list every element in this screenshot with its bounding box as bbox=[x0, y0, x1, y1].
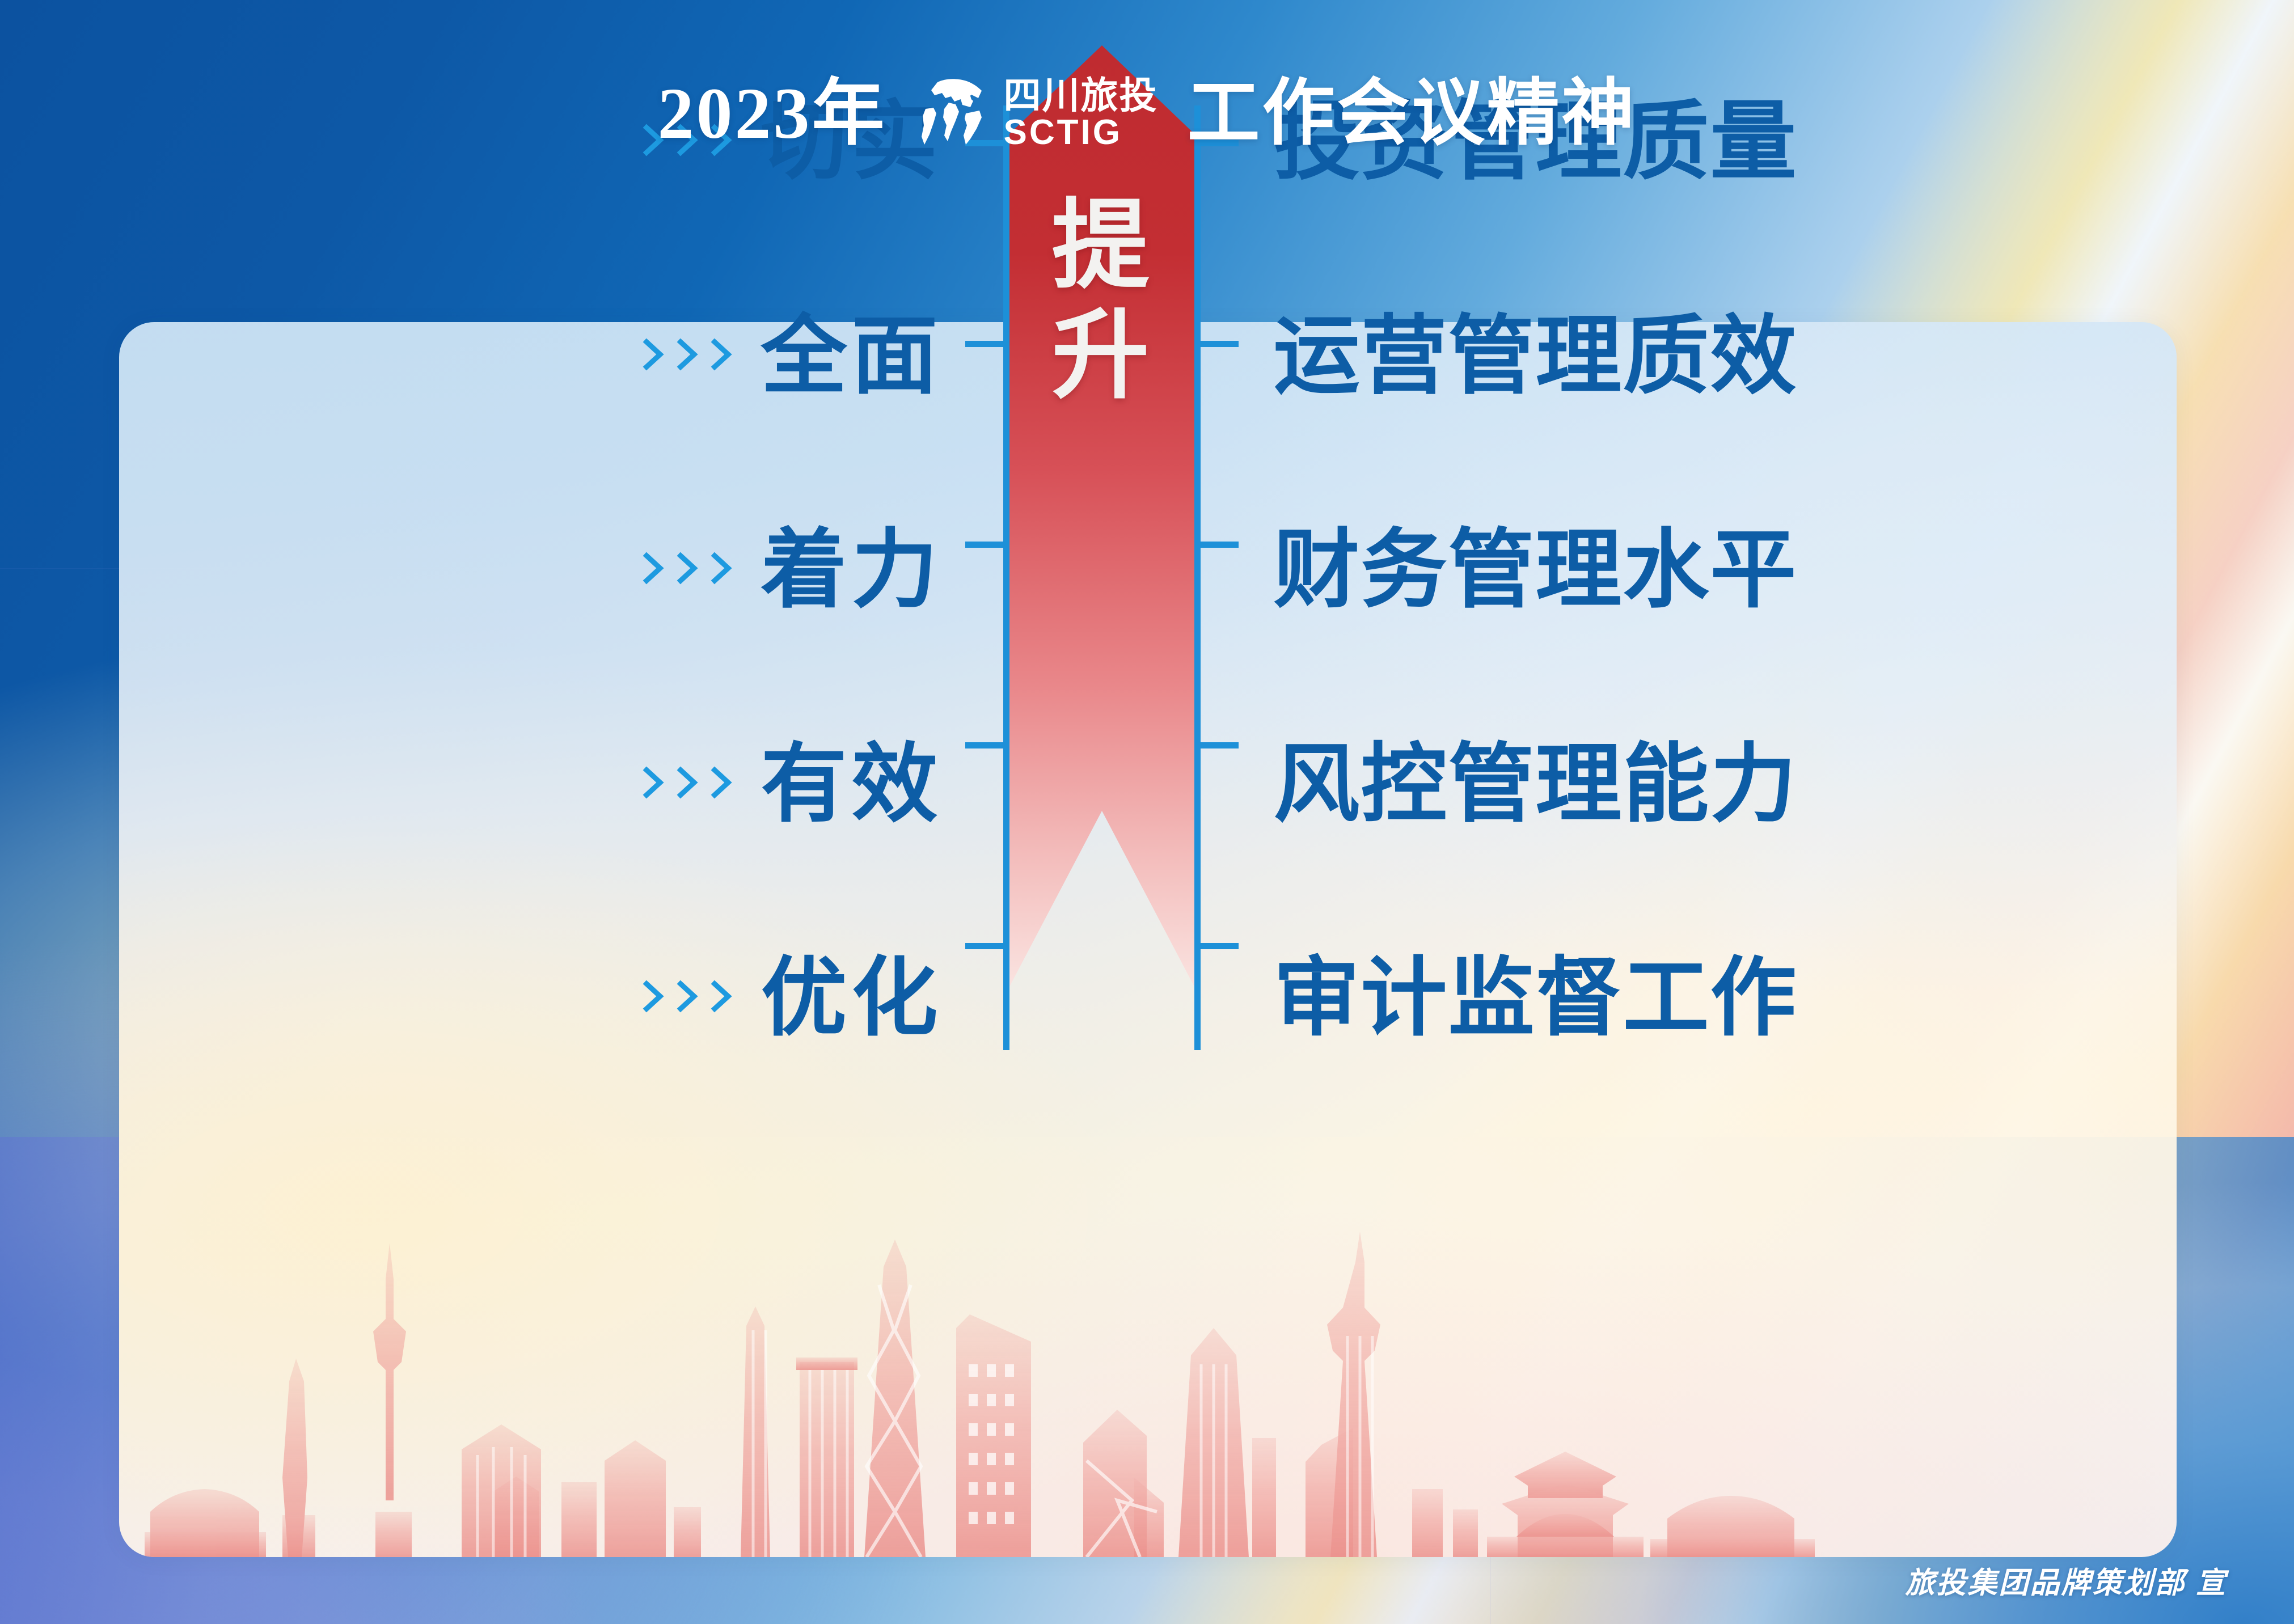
footer-credit: 旅投集团品牌策划部 宣 bbox=[1906, 1559, 2227, 1601]
brand-logo: 四川旅投 SCTIG bbox=[916, 77, 1157, 150]
keyword-row[interactable]: 全面 bbox=[211, 308, 943, 404]
objective-row[interactable]: 风控管理能力 bbox=[1261, 737, 2084, 832]
keyword-row[interactable]: 着力 bbox=[211, 522, 943, 618]
keyword-label: 全面 bbox=[761, 313, 943, 399]
chevron-triple-icon bbox=[642, 766, 735, 800]
keyword-label: 优化 bbox=[761, 955, 943, 1041]
bracket-tick bbox=[965, 341, 1009, 347]
globe-logo-icon bbox=[916, 78, 991, 149]
objective-row[interactable]: 财务管理水平 bbox=[1261, 522, 2084, 618]
keyword-row[interactable]: 优化 bbox=[211, 950, 943, 1046]
bracket-tick bbox=[965, 542, 1009, 548]
bracket-spine bbox=[1003, 105, 1009, 1050]
chevron-triple-icon bbox=[642, 979, 735, 1013]
objective-row[interactable]: 运营管理质效 bbox=[1261, 308, 2084, 404]
bracket-tick bbox=[965, 943, 1009, 949]
city-skyline-illustration bbox=[119, 1194, 2177, 1557]
keyword-label: 着力 bbox=[761, 527, 943, 613]
arrow-label-char-2: 升 bbox=[1052, 302, 1152, 412]
bracket-tick bbox=[965, 742, 1009, 748]
chevron-triple-icon bbox=[642, 337, 735, 371]
brand-name-cn: 四川旅投 bbox=[1003, 77, 1157, 114]
objective-label: 运营管理质效 bbox=[1274, 313, 1798, 399]
objective-row[interactable]: 审计监督工作 bbox=[1261, 950, 2084, 1046]
bracket-tick bbox=[1194, 341, 1239, 347]
brand-wordmark: 四川旅投 SCTIG bbox=[1003, 77, 1157, 150]
poster-header: 2023年 四川旅投 SCTIG 工作会议精神 bbox=[0, 0, 2294, 227]
poster-root: 2023年 四川旅投 SCTIG 工作会议精神 bbox=[0, 0, 2294, 1624]
chevron-triple-icon bbox=[642, 551, 735, 585]
bracket-tick bbox=[1194, 943, 1239, 949]
header-subject: 工作会议精神 bbox=[1187, 77, 1636, 150]
brand-name-en: SCTIG bbox=[1003, 115, 1122, 150]
bracket-spine bbox=[1194, 105, 1201, 1050]
objective-label: 风控管理能力 bbox=[1274, 741, 1798, 827]
keyword-label: 有效 bbox=[761, 741, 943, 827]
bracket-tick bbox=[1194, 742, 1239, 748]
objective-label: 审计监督工作 bbox=[1274, 955, 1798, 1041]
objective-label: 财务管理水平 bbox=[1274, 527, 1798, 613]
header-year: 2023年 bbox=[657, 77, 886, 150]
keyword-row[interactable]: 有效 bbox=[211, 737, 943, 832]
bracket-tick bbox=[1194, 542, 1239, 548]
